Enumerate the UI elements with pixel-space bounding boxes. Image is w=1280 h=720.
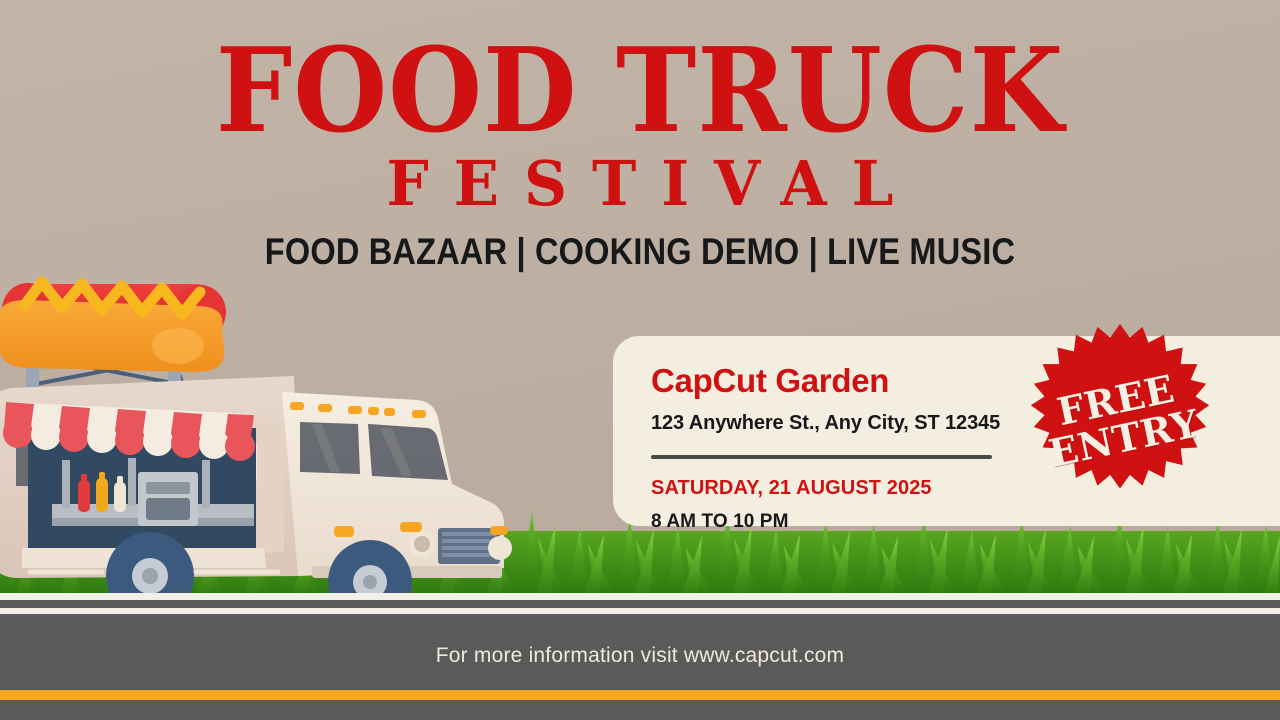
- road-line-gap: [0, 600, 1280, 608]
- card-divider: [651, 455, 992, 459]
- food-truck-illustration: [0, 276, 542, 616]
- page-subtitle: FESTIVAL: [26, 153, 1255, 215]
- condiment-bottles: [78, 472, 126, 512]
- food-truck-icon: [0, 276, 542, 616]
- free-entry-badge: FREE ENTRY: [1022, 322, 1218, 518]
- tagline: FOOD BAZAAR | COOKING DEMO | LIVE MUSIC: [77, 233, 1203, 270]
- road-orange-line: [0, 690, 1280, 700]
- giant-hot-dog-prop: [0, 282, 226, 390]
- headline-block: FOOD TRUCK FESTIVAL FOOD BAZAAR | COOKIN…: [0, 38, 1280, 270]
- poster-canvas: FOOD TRUCK FESTIVAL FOOD BAZAAR | COOKIN…: [0, 0, 1280, 720]
- road-surface: For more information visit www.capcut.co…: [0, 614, 1280, 720]
- road-strip: For more information visit www.capcut.co…: [0, 593, 1280, 720]
- badge-text-group: FREE ENTRY: [1004, 304, 1236, 536]
- road-line-upper: [0, 593, 1280, 600]
- footer-info: For more information visit www.capcut.co…: [0, 644, 1280, 668]
- page-title: FOOD TRUCK: [45, 38, 1235, 145]
